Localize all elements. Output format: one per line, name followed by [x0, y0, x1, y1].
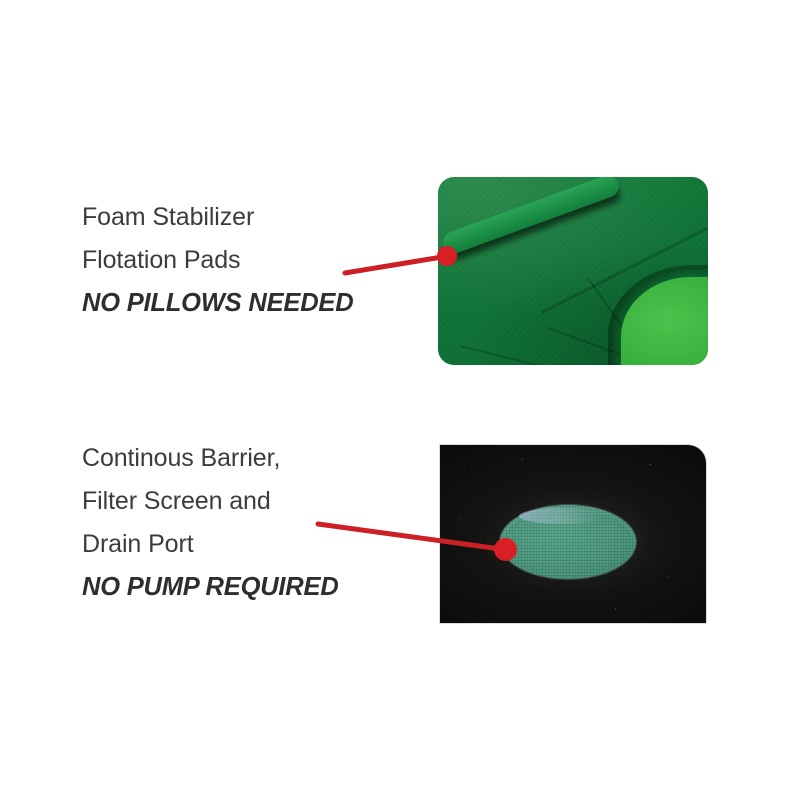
callout-line-3: Drain Port — [82, 523, 339, 566]
drain-port-filter-screen — [500, 505, 636, 579]
marker-dot-foam-stabilizer — [437, 246, 457, 266]
callout-line-2: Filter Screen and — [82, 480, 339, 523]
callout-line-1: Continous Barrier, — [82, 437, 339, 480]
callout-text-drain-port: Continous Barrier, Filter Screen and Dra… — [82, 437, 339, 609]
callout-emphasis: NO PILLOWS NEEDED — [82, 282, 353, 325]
marker-dot-drain-port — [494, 538, 517, 561]
callout-line-2: Flotation Pads — [82, 239, 353, 282]
callout-line-1: Foam Stabilizer — [82, 196, 353, 239]
leader-line-foam-stabilizer — [345, 256, 448, 273]
leader-lines — [0, 0, 800, 800]
photo-foam-stabilizer — [438, 177, 708, 365]
callout-emphasis: NO PUMP REQUIRED — [82, 566, 339, 609]
page-root: Foam Stabilizer Flotation Pads NO PILLOW… — [0, 0, 800, 800]
callout-text-foam-stabilizer: Foam Stabilizer Flotation Pads NO PILLOW… — [82, 196, 353, 325]
photo-drain-port — [440, 445, 706, 623]
